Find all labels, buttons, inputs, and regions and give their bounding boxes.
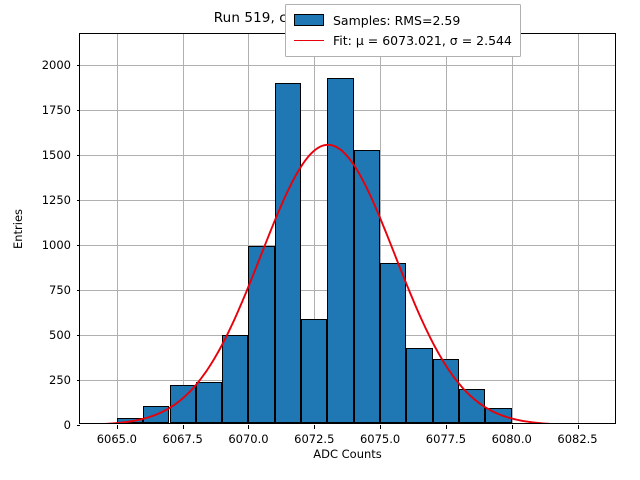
- x-tick-mark: [314, 425, 315, 429]
- legend-patch-icon: [294, 14, 324, 26]
- y-tick-label: 1250: [42, 193, 71, 207]
- legend-entry-fit: Fit: μ = 6073.021, σ = 2.544: [294, 30, 512, 50]
- x-tick-mark: [380, 425, 381, 429]
- y-tick-mark: [77, 155, 81, 156]
- y-tick-label: 1750: [42, 103, 71, 117]
- y-tick-mark: [77, 380, 81, 381]
- legend-label-fit: Fit: μ = 6073.021, σ = 2.544: [333, 33, 512, 48]
- plot-axes: 6065.06067.56070.06072.56075.06077.56080…: [79, 33, 616, 424]
- x-tick-label: 6075.0: [360, 432, 400, 446]
- y-tick-mark: [77, 290, 81, 291]
- y-tick-mark: [77, 335, 81, 336]
- x-tick-label: 6082.5: [557, 432, 597, 446]
- y-tick-label: 750: [49, 283, 71, 297]
- y-tick-mark: [77, 245, 81, 246]
- y-tick-label: 2000: [42, 58, 71, 72]
- x-tick-mark: [578, 425, 579, 429]
- y-tick-mark: [77, 425, 81, 426]
- x-tick-label: 6077.5: [426, 432, 466, 446]
- x-tick-mark: [248, 425, 249, 429]
- x-tick-mark: [117, 425, 118, 429]
- x-axis-label: ADC Counts: [79, 447, 616, 461]
- x-tick-label: 6080.0: [492, 432, 532, 446]
- x-tick-label: 6072.5: [294, 432, 334, 446]
- matplotlib-figure: Run 519, channel115, Pedestal 6065.06067…: [0, 0, 640, 480]
- y-axis-label: Entries: [11, 33, 27, 424]
- legend-entry-samples: Samples: RMS=2.59: [294, 10, 512, 30]
- fit-curve: [80, 34, 615, 423]
- y-tick-mark: [77, 200, 81, 201]
- y-tick-mark: [77, 65, 81, 66]
- y-tick-label: 0: [64, 418, 71, 432]
- x-tick-mark: [183, 425, 184, 429]
- y-tick-label: 500: [49, 328, 71, 342]
- legend-label-samples: Samples: RMS=2.59: [333, 13, 460, 28]
- y-tick-mark: [77, 110, 81, 111]
- plot-area: [80, 34, 615, 423]
- x-tick-mark: [512, 425, 513, 429]
- y-tick-label: 1000: [42, 238, 71, 252]
- x-tick-label: 6065.0: [97, 432, 137, 446]
- legend-line-icon: [294, 40, 324, 41]
- legend: Samples: RMS=2.59 Fit: μ = 6073.021, σ =…: [285, 4, 521, 57]
- x-tick-label: 6067.5: [163, 432, 203, 446]
- y-tick-label: 1500: [42, 148, 71, 162]
- y-axis-label-text: Entries: [11, 208, 25, 248]
- x-tick-mark: [446, 425, 447, 429]
- y-tick-label: 250: [49, 373, 71, 387]
- x-tick-label: 6070.0: [228, 432, 268, 446]
